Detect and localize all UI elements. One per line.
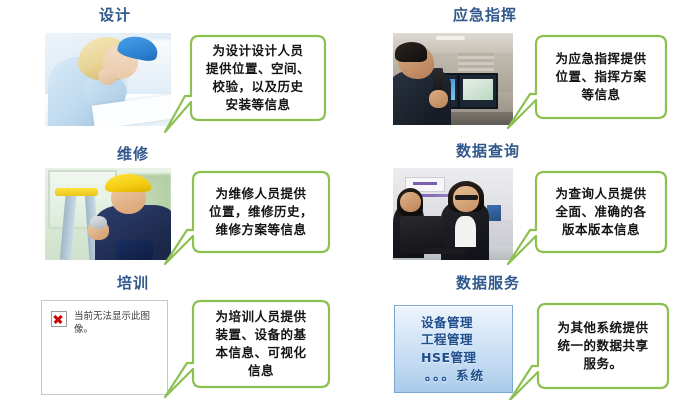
callout-text-emergency-command: 为应急指挥提供 位置、指挥方案 等信息: [536, 36, 666, 118]
broken-image-placeholder: 当前无法显示此图像。: [41, 300, 168, 395]
callout-line: 本信息、可视化: [215, 344, 306, 362]
callout-line: 信息: [248, 362, 274, 380]
system-line: 。。。系统: [421, 367, 512, 385]
callout-line: 位置、指挥方案: [555, 68, 646, 86]
panel-title-design: 设计: [60, 4, 170, 25]
callout-line: 校验，以及历史: [212, 78, 303, 96]
system-line: HSE管理: [421, 349, 512, 367]
panel-title-data-service: 数据服务: [423, 272, 553, 293]
system-line: 设备管理: [421, 314, 512, 332]
callout-text-data-query: 为查询人员提供 全面、准确的各 版本版本信息: [536, 172, 666, 252]
designer-woman-blueprint-photo: [45, 33, 171, 126]
panel-title-training: 培训: [78, 272, 188, 293]
callout-line: 为其他系统提供: [557, 319, 648, 337]
callout-data-service: 为其他系统提供 统一的数据共享 服务。: [508, 300, 674, 396]
operator-walkie-talkie-photo: [393, 33, 513, 125]
callout-line: 版本版本信息: [562, 221, 640, 239]
system-list-box: 设备管理 工程管理 HSE管理 。。。系统: [394, 305, 513, 393]
callout-line: 为设计设计人员: [212, 42, 303, 60]
callout-line: 安装等信息: [225, 96, 290, 114]
panel-title-emergency-command: 应急指挥: [420, 4, 550, 25]
callout-line: 位置，维修历史，: [209, 203, 313, 221]
callout-design: 为设计设计人员 提供位置、空间、 校验，以及历史 安装等信息: [163, 30, 333, 130]
office-workers-computer-photo: [393, 168, 513, 260]
callout-line: 为维修人员提供: [215, 185, 306, 203]
broken-image-message: 当前无法显示此图像。: [74, 311, 159, 336]
callout-training: 为培训人员提供 装置、设备的基 本信息、可视化 信息: [163, 295, 335, 397]
callout-line: 为应急指挥提供: [555, 50, 646, 68]
callout-line: 等信息: [581, 86, 620, 104]
maintenance-worker-ladder-photo: [45, 168, 171, 260]
callout-line: 全面、准确的各: [555, 203, 646, 221]
callout-text-training: 为培训人员提供 装置、设备的基 本信息、可视化 信息: [193, 301, 329, 387]
callout-line: 提供位置、空间、: [206, 60, 310, 78]
system-line: 工程管理: [421, 331, 512, 349]
callout-line: 服务。: [583, 355, 622, 373]
callout-line: 为培训人员提供: [215, 308, 306, 326]
broken-image-x-icon: [51, 311, 67, 327]
callout-data-query: 为查询人员提供 全面、准确的各 版本版本信息: [506, 168, 672, 260]
callout-line: 为查询人员提供: [555, 185, 646, 203]
panel-title-maintenance: 维修: [78, 143, 188, 164]
callout-maintenance: 为维修人员提供 位置，维修历史， 维修方案等信息: [163, 168, 335, 260]
panel-title-data-query: 数据查询: [423, 140, 553, 161]
callout-emergency-command: 为应急指挥提供 位置、指挥方案 等信息: [506, 30, 672, 128]
callout-text-design: 为设计设计人员 提供位置、空间、 校验，以及历史 安装等信息: [191, 36, 325, 120]
callout-text-maintenance: 为维修人员提供 位置，维修历史， 维修方案等信息: [193, 172, 329, 252]
callout-text-data-service: 为其他系统提供 统一的数据共享 服务。: [538, 304, 668, 388]
slide-canvas: 设计 为设计设计人员 提供位置、空间、 校验，以及历史 安装等信息: [0, 0, 681, 400]
callout-line: 统一的数据共享: [557, 337, 648, 355]
callout-line: 维修方案等信息: [215, 221, 306, 239]
callout-line: 装置、设备的基: [215, 326, 306, 344]
